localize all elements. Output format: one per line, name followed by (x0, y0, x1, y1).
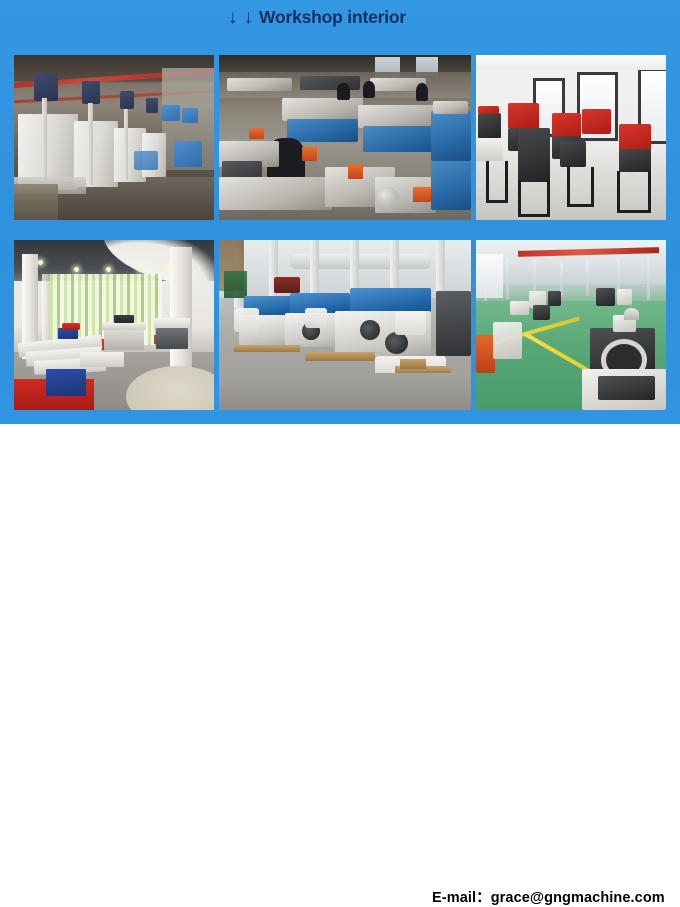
down-arrow-icon: ↓ (228, 8, 238, 27)
banner-header: ↓ ↓ Workshop interior (0, 0, 680, 40)
page-root: ↓ ↓ Workshop interior (0, 0, 680, 489)
page-title: Workshop interior (259, 7, 406, 28)
photo-red-machines-room (476, 55, 666, 220)
photo-showroom (14, 240, 214, 410)
photo-lathe-assembly (219, 55, 471, 220)
photo-grinders-pallets (219, 240, 471, 410)
photo-green-floor-workshop (476, 240, 666, 410)
gallery-banner: ↓ ↓ Workshop interior (0, 0, 680, 424)
gallery-row-2 (14, 240, 666, 410)
header-title-group: ↓ ↓ Workshop interior (228, 2, 406, 32)
down-arrow-icon: ↓ (244, 8, 254, 27)
contact-email[interactable]: E-mail：grace@gngmachine.com (432, 886, 665, 907)
photo-drilling-machines (14, 55, 214, 220)
gallery-row-1 (14, 55, 666, 220)
footer-bar: E-mail：grace@gngmachine.com (0, 424, 680, 489)
